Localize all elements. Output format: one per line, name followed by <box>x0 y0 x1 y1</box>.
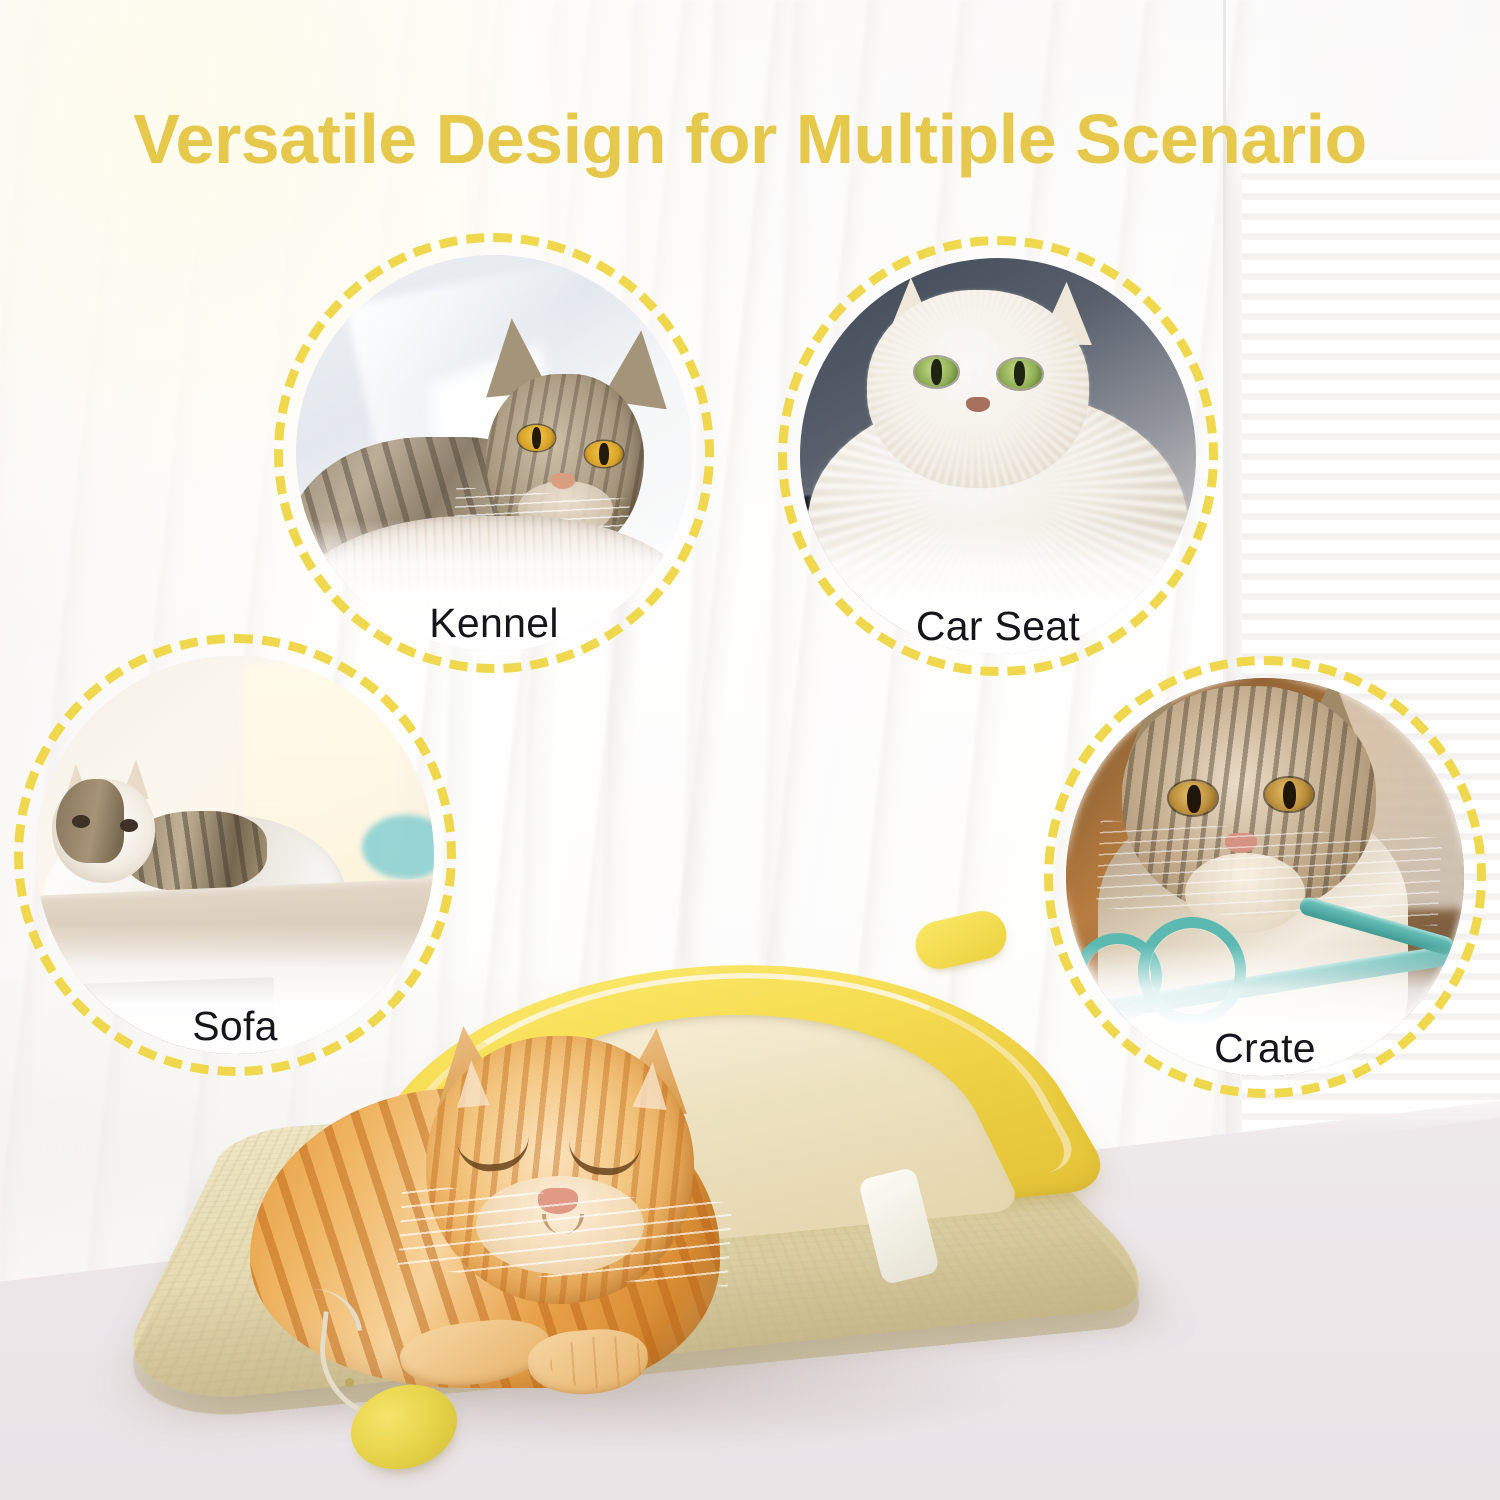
scenario-card-crate[interactable]: Crate <box>1044 656 1486 1098</box>
scenario-card-sofa[interactable]: Sofa <box>14 634 456 1076</box>
scenario-label-car-seat: Car Seat <box>778 603 1218 650</box>
scenario-card-car-seat[interactable]: Car Seat <box>778 236 1218 676</box>
bolster-tab <box>911 906 1011 973</box>
scenario-label-sofa: Sofa <box>14 1003 456 1050</box>
product-marketing-image: Versatile Design for Multiple Scenario <box>0 0 1500 1500</box>
cord-connector <box>345 1378 354 1387</box>
scenario-card-kennel[interactable]: Kennel <box>274 233 714 673</box>
scenario-label-crate: Crate <box>1044 1025 1486 1072</box>
scenario-label-kennel: Kennel <box>274 600 714 647</box>
page-title: Versatile Design for Multiple Scenario <box>0 104 1500 174</box>
